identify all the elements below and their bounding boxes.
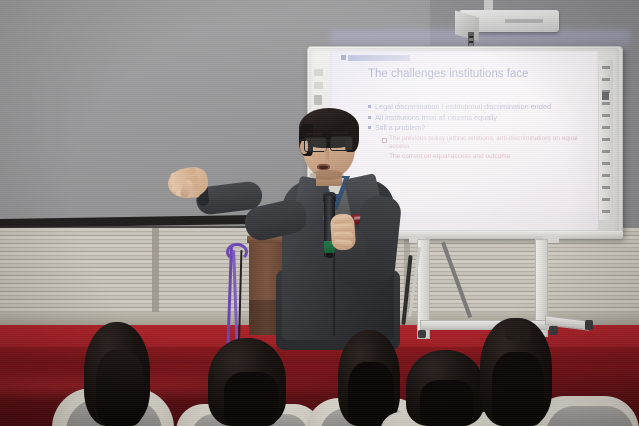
audience-hair [492,352,544,426]
lecture-photo-scene: The challenges institutions face Legal d… [0,0,639,426]
whiteboard-control-button-icon[interactable] [314,95,322,105]
presenter-finger [334,239,352,246]
whiteboard-active-control-icon[interactable] [602,92,609,100]
stand-caster-wheel [549,326,558,335]
stand-caster-wheel [418,330,426,338]
wall-panel-seam [152,228,159,324]
projector-label [505,19,543,23]
presenter-mouth-opening [319,166,328,169]
whiteboard-control-button-icon[interactable] [314,69,323,76]
presenter-finger [332,223,353,231]
glasses-lens-icon [330,136,353,151]
carpet-highlight [0,368,380,402]
audience-hair-strand [505,320,531,340]
microphone-tip [326,253,333,258]
glasses-bridge [325,140,331,142]
audience-hair [420,380,474,426]
whiteboard-control-button-icon[interactable] [314,82,323,89]
presenter-finger [333,232,353,239]
presenter-chin-shadow [310,170,344,180]
presenter-eyebrow [306,133,322,135]
presenter-eyebrow [332,132,348,134]
audience-hair [224,372,278,426]
whiteboard-right-control-icons[interactable] [602,66,610,214]
audience-hair [96,350,144,426]
glasses-temple-arm [300,139,306,141]
stand-caster-wheel [585,320,593,330]
presenter-nose [324,148,329,160]
